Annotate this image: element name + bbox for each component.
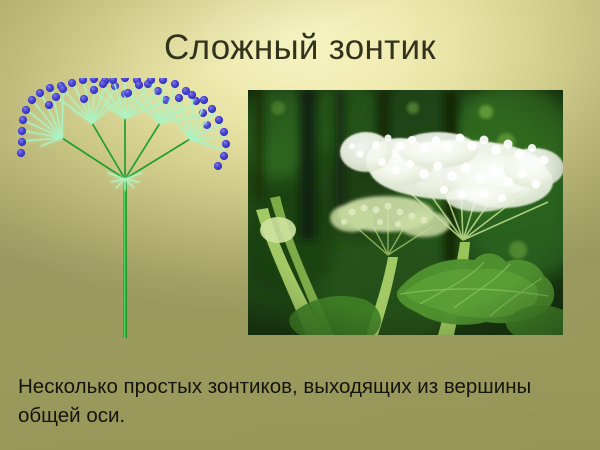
flower-dots bbox=[175, 91, 230, 170]
primary-rays bbox=[62, 118, 190, 179]
photo-shade bbox=[248, 90, 563, 335]
umbel-diagram-svg bbox=[8, 78, 240, 348]
compound-umbel-diagram bbox=[8, 78, 240, 348]
umbellule-1 bbox=[17, 82, 65, 157]
main-axis bbox=[123, 178, 126, 338]
hogweed-photograph bbox=[248, 90, 563, 335]
slide: Сложный зонтик bbox=[0, 0, 600, 450]
hogweed-photo-svg bbox=[248, 90, 563, 335]
slide-caption: Несколько простых зонтиков, выходящих из… bbox=[18, 372, 538, 430]
page-title: Сложный зонтик bbox=[0, 26, 600, 70]
